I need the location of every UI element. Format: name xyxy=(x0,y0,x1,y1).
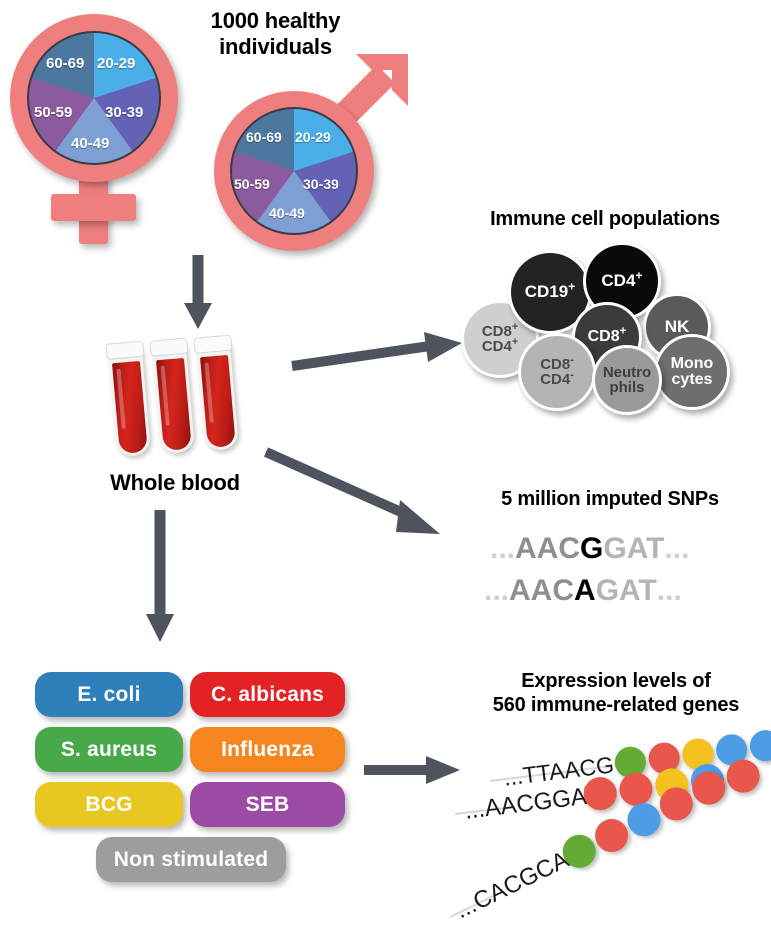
cell-circle-cd8-cd4-dn[interactable]: CD8- CD4- xyxy=(518,333,596,411)
arrow-stimuli-to-expression xyxy=(362,752,462,788)
expression-title-line1: Expression levels of xyxy=(462,670,770,694)
snp-title: 5 million imputed SNPs xyxy=(450,488,770,512)
cell-label-line1: CD8 xyxy=(588,328,620,345)
cell-label-line1: CD19 xyxy=(525,282,568,301)
tube-cap xyxy=(105,341,144,360)
snp-prefix: ... xyxy=(484,574,509,608)
cell-label-sup1: - xyxy=(570,354,574,366)
snp-right: GAT xyxy=(596,574,657,608)
whole-blood-tubes xyxy=(108,332,268,462)
figure-canvas: 60-69 20-29 50-59 30-39 40-49 1000 healt… xyxy=(0,0,771,922)
stimulus-non-stimulated[interactable]: Non stimulated xyxy=(96,837,286,882)
cell-label-line2: cytes xyxy=(672,371,713,388)
blood-tube xyxy=(195,331,239,452)
stimulus-influenza[interactable]: Influenza xyxy=(190,727,345,772)
snp-suffix: ... xyxy=(657,574,682,608)
stimulation-panel: E. coli C. albicans S. aureus Influenza … xyxy=(30,672,350,902)
cell-label-line2: phils xyxy=(609,379,644,396)
cell-label-sup1: + xyxy=(568,280,575,294)
gene-expression-strands: ...TTAACGG ...AACGGAT ...CACGCAA xyxy=(455,735,771,915)
pie-label-male-30-39: 30-39 xyxy=(303,176,339,192)
pie-label-50-59: 50-59 xyxy=(34,104,72,121)
cohort-title-line1: 1000 healthy xyxy=(178,8,373,34)
immune-cell-cluster: CD8+ CD4+ CD19+ CD4+ NK CD8+ xyxy=(455,240,755,425)
arrow-down-cohort-to-blood xyxy=(178,255,218,333)
cell-label-line2: CD4 xyxy=(482,338,512,355)
cell-label-sup2: - xyxy=(570,369,574,381)
snp-prefix: ... xyxy=(490,532,515,566)
cell-label-line1: Mono xyxy=(671,355,714,372)
cell-label-line1: CD4 xyxy=(601,271,635,290)
snp-sequence-row: ...AACAGAT... xyxy=(484,574,682,608)
male-gender-symbol: 60-69 20-29 50-59 30-39 40-49 xyxy=(208,50,413,235)
pie-label-male-20-29: 20-29 xyxy=(295,129,331,145)
immune-cell-title: Immune cell populations xyxy=(440,208,770,232)
stimulus-seb[interactable]: SEB xyxy=(190,782,345,827)
blood-tube xyxy=(107,337,151,458)
snp-right: GAT xyxy=(603,532,664,566)
pie-label-male-60-69: 60-69 xyxy=(246,129,282,145)
stimulus-bcg[interactable]: BCG xyxy=(35,782,183,827)
expression-title-line2: 560 immune-related genes xyxy=(462,694,770,718)
cell-label-sup1: + xyxy=(512,321,518,333)
snp-left: AAC xyxy=(515,532,580,566)
cell-label-sup1: + xyxy=(620,326,627,338)
female-symbol-crossbar xyxy=(51,194,136,221)
stimulus-e-coli[interactable]: E. coli xyxy=(35,672,183,717)
arrow-down-blood-to-stimuli xyxy=(140,510,180,645)
cell-label-sup1: + xyxy=(635,269,642,283)
pie-label-male-40-49: 40-49 xyxy=(269,205,305,221)
snp-sequence-row: ...AACGGAT... xyxy=(490,532,689,566)
arrow-blood-to-snps xyxy=(262,450,447,545)
whole-blood-label: Whole blood xyxy=(80,470,270,496)
stimulus-c-albicans[interactable]: C. albicans xyxy=(190,672,345,717)
pie-label-60-69: 60-69 xyxy=(46,55,84,72)
cell-circle-neutrophils[interactable]: Neutro phils xyxy=(592,345,662,415)
strand-sequence: ...AACGGAT xyxy=(463,781,601,825)
snp-left: AAC xyxy=(509,574,574,608)
expression-title: Expression levels of 560 immune-related … xyxy=(462,670,770,717)
pie-label-40-49: 40-49 xyxy=(71,135,109,152)
tube-cap xyxy=(149,338,188,357)
blood-tube xyxy=(151,334,195,455)
snp-suffix: ... xyxy=(664,532,689,566)
tube-cap xyxy=(193,335,232,354)
pie-label-20-29: 20-29 xyxy=(97,55,135,72)
pie-label-30-39: 30-39 xyxy=(105,104,143,121)
female-gender-symbol: 60-69 20-29 50-59 30-39 40-49 xyxy=(10,14,185,244)
cell-circle-monocytes[interactable]: Mono cytes xyxy=(654,334,730,410)
gene-bead xyxy=(748,728,771,763)
snp-variant-allele: G xyxy=(580,532,603,566)
snp-variant-allele: A xyxy=(574,574,596,608)
cell-label-sup2: + xyxy=(512,336,518,348)
snp-sequences: ...AACGGAT... ...AACAGAT... xyxy=(480,528,755,618)
arrow-blood-to-immune-cells xyxy=(290,330,465,380)
cell-label-line2: CD4 xyxy=(540,371,570,388)
stimulus-s-aureus[interactable]: S. aureus xyxy=(35,727,183,772)
pie-label-male-50-59: 50-59 xyxy=(234,176,270,192)
